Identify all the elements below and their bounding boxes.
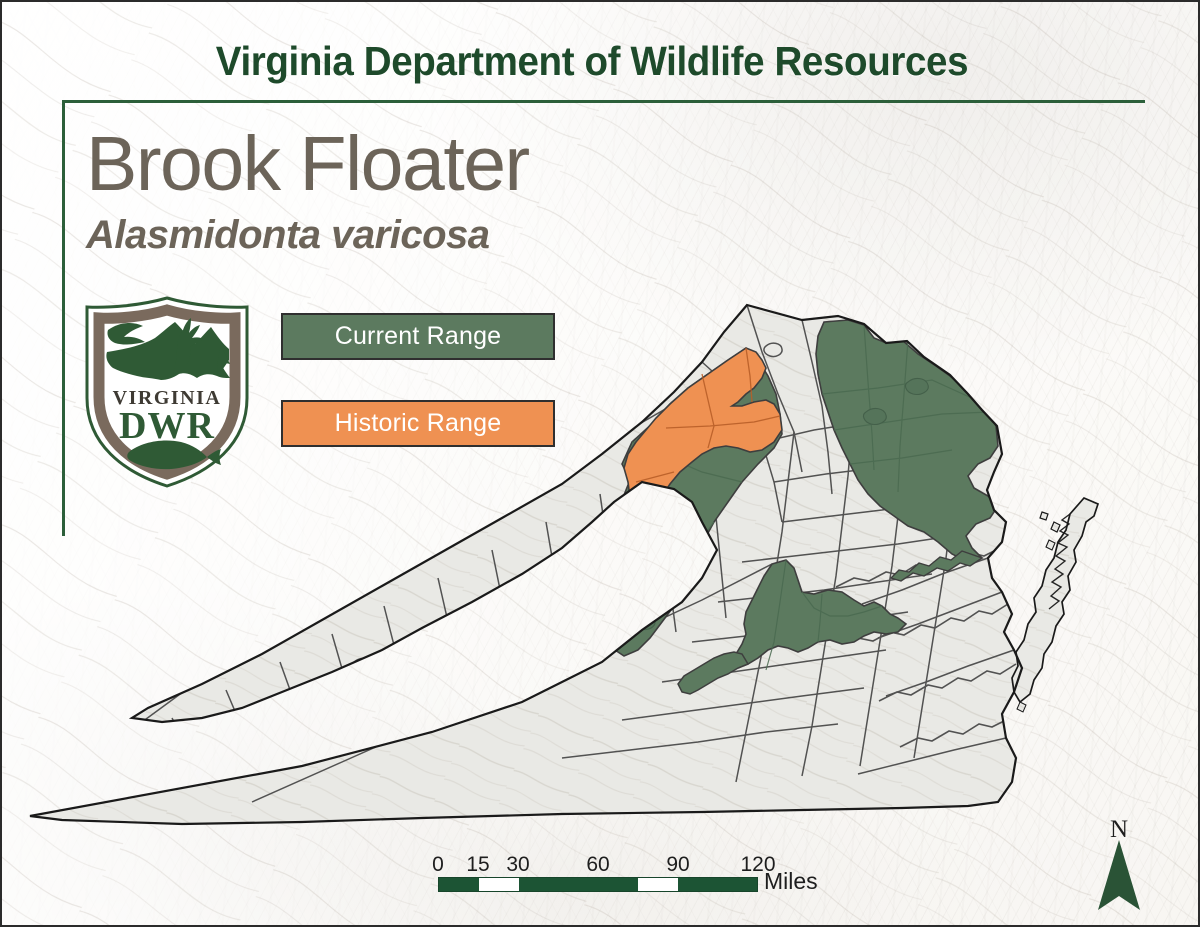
scale-tick-0: 0: [432, 853, 444, 877]
scale-segment: [678, 878, 758, 891]
scale-tick-90: 90: [666, 853, 689, 877]
scale-tick-60: 60: [586, 853, 609, 877]
header-rule-horizontal: [62, 100, 1145, 103]
page-title: Virginia Department of Wildlife Resource…: [37, 38, 1146, 85]
scale-tick-15: 15: [466, 853, 489, 877]
legend-item-current-range[interactable]: Current Range: [281, 313, 555, 360]
legend-item-historic-range[interactable]: Historic Range: [281, 400, 555, 447]
scale-bar-labels: 0 15 30 60 90 120: [438, 853, 758, 877]
species-common-name: Brook Floater: [86, 126, 529, 203]
map-poster: Virginia Department of Wildlife Resource…: [0, 0, 1200, 927]
scale-segment: [519, 878, 559, 891]
logo-dwr-text: DWR: [119, 405, 215, 447]
legend-label-historic-range: Historic Range: [335, 409, 502, 438]
scale-segment: [558, 878, 638, 891]
scale-bar-track: [438, 877, 758, 892]
scale-bar-units: Miles: [764, 868, 818, 895]
scale-bar: 0 15 30 60 90 120: [438, 853, 758, 892]
scale-tick-30: 30: [506, 853, 529, 877]
species-scientific-name: Alasmidonta varicosa: [86, 215, 490, 255]
header-rule-vertical: [62, 100, 65, 536]
scale-segment: [439, 878, 479, 891]
legend-label-current-range: Current Range: [335, 322, 502, 351]
north-arrow-icon: [1090, 818, 1148, 916]
dwr-logo[interactable]: VIRGINIA DWR: [79, 294, 255, 490]
